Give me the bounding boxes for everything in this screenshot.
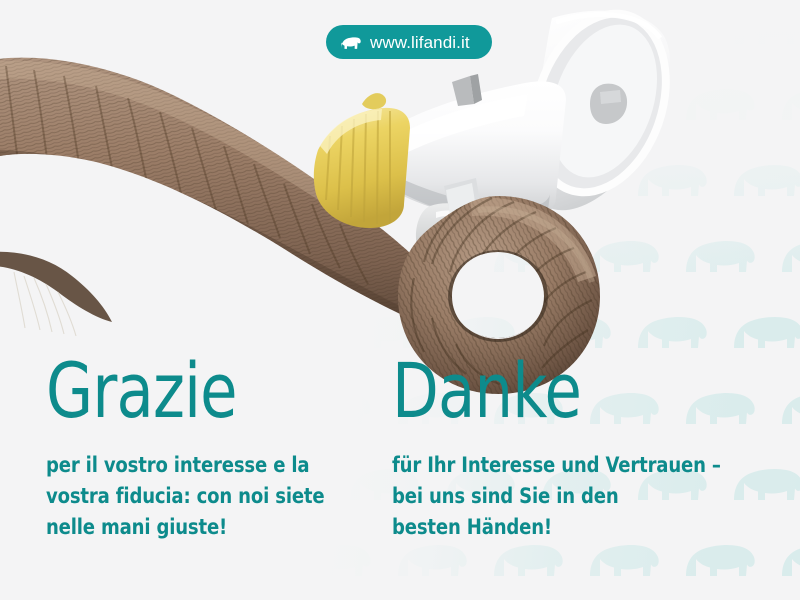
- message-column-italian: Grazie per il vostro interesse e la vost…: [46, 352, 376, 543]
- body-line: für Ihr Interesse und Vertrauen –: [392, 450, 719, 481]
- message-column-german: Danke für Ihr Interesse und Vertrauen – …: [392, 352, 772, 543]
- body-line: besten Händen!: [392, 512, 719, 543]
- body-line: vostra fiducia: con noi siete: [46, 481, 330, 512]
- megaphone-yellow-ring: [314, 93, 410, 228]
- website-url-badge[interactable]: www.lifandi.it: [326, 25, 492, 59]
- headline-german: Danke: [392, 352, 696, 430]
- headline-italian: Grazie: [46, 352, 310, 430]
- poster-canvas: www.lifandi.it Grazie per il vostro inte…: [0, 0, 800, 600]
- body-line: nelle mani giuste!: [46, 512, 330, 543]
- body-line: bei uns sind Sie in den: [392, 481, 719, 512]
- body-text-italian: per il vostro interesse e la vostra fidu…: [46, 450, 330, 543]
- body-text-german: für Ihr Interesse und Vertrauen – bei un…: [392, 450, 719, 543]
- elephant-icon: [339, 33, 361, 51]
- website-url-text: www.lifandi.it: [370, 34, 470, 51]
- body-line: per il vostro interesse e la: [46, 450, 330, 481]
